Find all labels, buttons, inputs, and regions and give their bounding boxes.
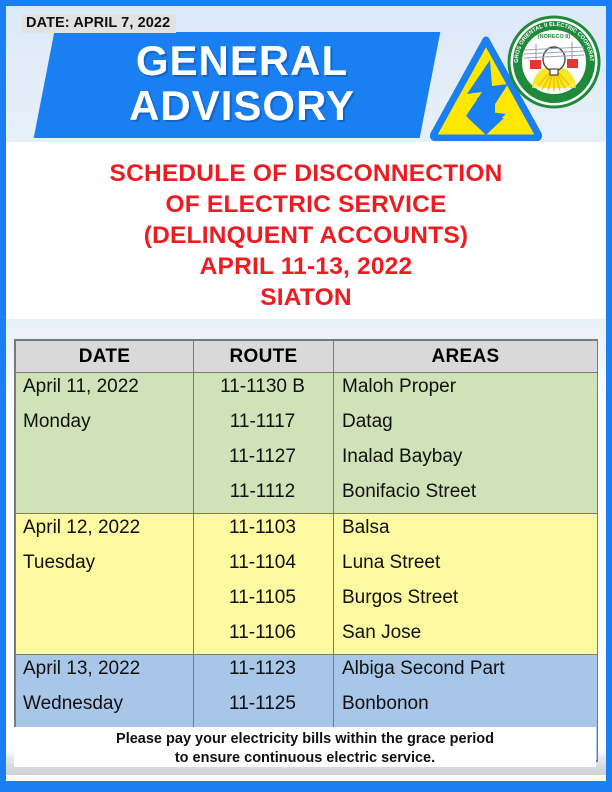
note-line-2: to ensure continuous electric service. <box>14 749 596 768</box>
cell-area: Bonifacio Street <box>334 478 598 514</box>
table-row: Monday11-1117Datag <box>16 408 598 443</box>
cell-route: 11-1123 <box>194 655 334 691</box>
column-header-areas: AREAS <box>334 341 598 373</box>
cell-area: Burgos Street <box>334 584 598 619</box>
cell-date: April 13, 2022 <box>16 655 194 691</box>
headline-block: SCHEDULE OF DISCONNECTION OF ELECTRIC SE… <box>6 142 606 319</box>
table-row: Wednesday11-1125Bonbonon <box>16 690 598 725</box>
cell-route: 11-1127 <box>194 443 334 478</box>
cell-area: Balsa <box>334 514 598 550</box>
cell-route: 11-1106 <box>194 619 334 655</box>
poster-title: GENERAL ADVISORY <box>46 28 438 140</box>
cell-area: San Jose <box>334 619 598 655</box>
cell-date: Monday <box>16 408 194 443</box>
cell-route: 11-1103 <box>194 514 334 550</box>
headline-line-2: OF ELECTRIC SERVICE <box>6 189 606 220</box>
table-row: April 13, 202211-1123Albiga Second Part <box>16 655 598 691</box>
cell-route: 11-1112 <box>194 478 334 514</box>
poster-header: GENERAL ADVISORY <box>6 6 606 142</box>
column-header-route: ROUTE <box>194 341 334 373</box>
cell-route: 11-1125 <box>194 690 334 725</box>
cell-route: 11-1130 B <box>194 373 334 409</box>
cell-date <box>16 478 194 514</box>
table-header-row: DATE ROUTE AREAS <box>16 341 598 373</box>
cell-area: Bonbonon <box>334 690 598 725</box>
cell-area: Luna Street <box>334 549 598 584</box>
advisory-date-chip: DATE: APRIL 7, 2022 <box>22 14 176 33</box>
headline-line-4: APRIL 11-13, 2022 <box>6 251 606 282</box>
note-line-1: Please pay your electricity bills within… <box>14 730 596 749</box>
cell-route: 11-1117 <box>194 408 334 443</box>
column-header-date: DATE <box>16 341 194 373</box>
payment-reminder-note: Please pay your electricity bills within… <box>14 727 596 767</box>
cell-area: Datag <box>334 408 598 443</box>
cell-route: 11-1105 <box>194 584 334 619</box>
cell-date <box>16 584 194 619</box>
title-line-general: GENERAL <box>136 39 348 83</box>
cell-date: Wednesday <box>16 690 194 725</box>
title-line-advisory: ADVISORY <box>129 83 355 129</box>
cell-date <box>16 619 194 655</box>
table-body: April 11, 202211-1130 BMaloh ProperMonda… <box>16 373 598 761</box>
cell-area: Albiga Second Part <box>334 655 598 691</box>
table-row: 11-1112Bonifacio Street <box>16 478 598 514</box>
headline-line-5: SIATON <box>6 282 606 313</box>
disconnection-schedule-table: DATE ROUTE AREAS April 11, 202211-1130 B… <box>14 339 598 762</box>
cell-date: April 11, 2022 <box>16 373 194 409</box>
advisory-poster: GENERAL ADVISORY <box>0 0 612 792</box>
cell-date: April 12, 2022 <box>16 514 194 550</box>
table-row: Tuesday11-1104Luna Street <box>16 549 598 584</box>
table-row: 11-1127Inalad Baybay <box>16 443 598 478</box>
cell-area: Inalad Baybay <box>334 443 598 478</box>
cell-date <box>16 443 194 478</box>
table-row: 11-1106San Jose <box>16 619 598 655</box>
headline-line-3: (DELINQUENT ACCOUNTS) <box>6 220 606 251</box>
svg-text:(NORECO II): (NORECO II) <box>538 34 571 40</box>
cell-area: Maloh Proper <box>334 373 598 409</box>
cell-route: 11-1104 <box>194 549 334 584</box>
table-row: April 11, 202211-1130 BMaloh Proper <box>16 373 598 409</box>
headline-line-1: SCHEDULE OF DISCONNECTION <box>6 158 606 189</box>
table-row: 11-1105Burgos Street <box>16 584 598 619</box>
noreco-ii-cooperative-logo: (NORECO II) NEGROS ORIENTAL II ELECTRIC … <box>506 14 602 110</box>
table-row: April 12, 202211-1103Balsa <box>16 514 598 550</box>
poster-panel: GENERAL ADVISORY <box>6 6 606 781</box>
cell-date: Tuesday <box>16 549 194 584</box>
